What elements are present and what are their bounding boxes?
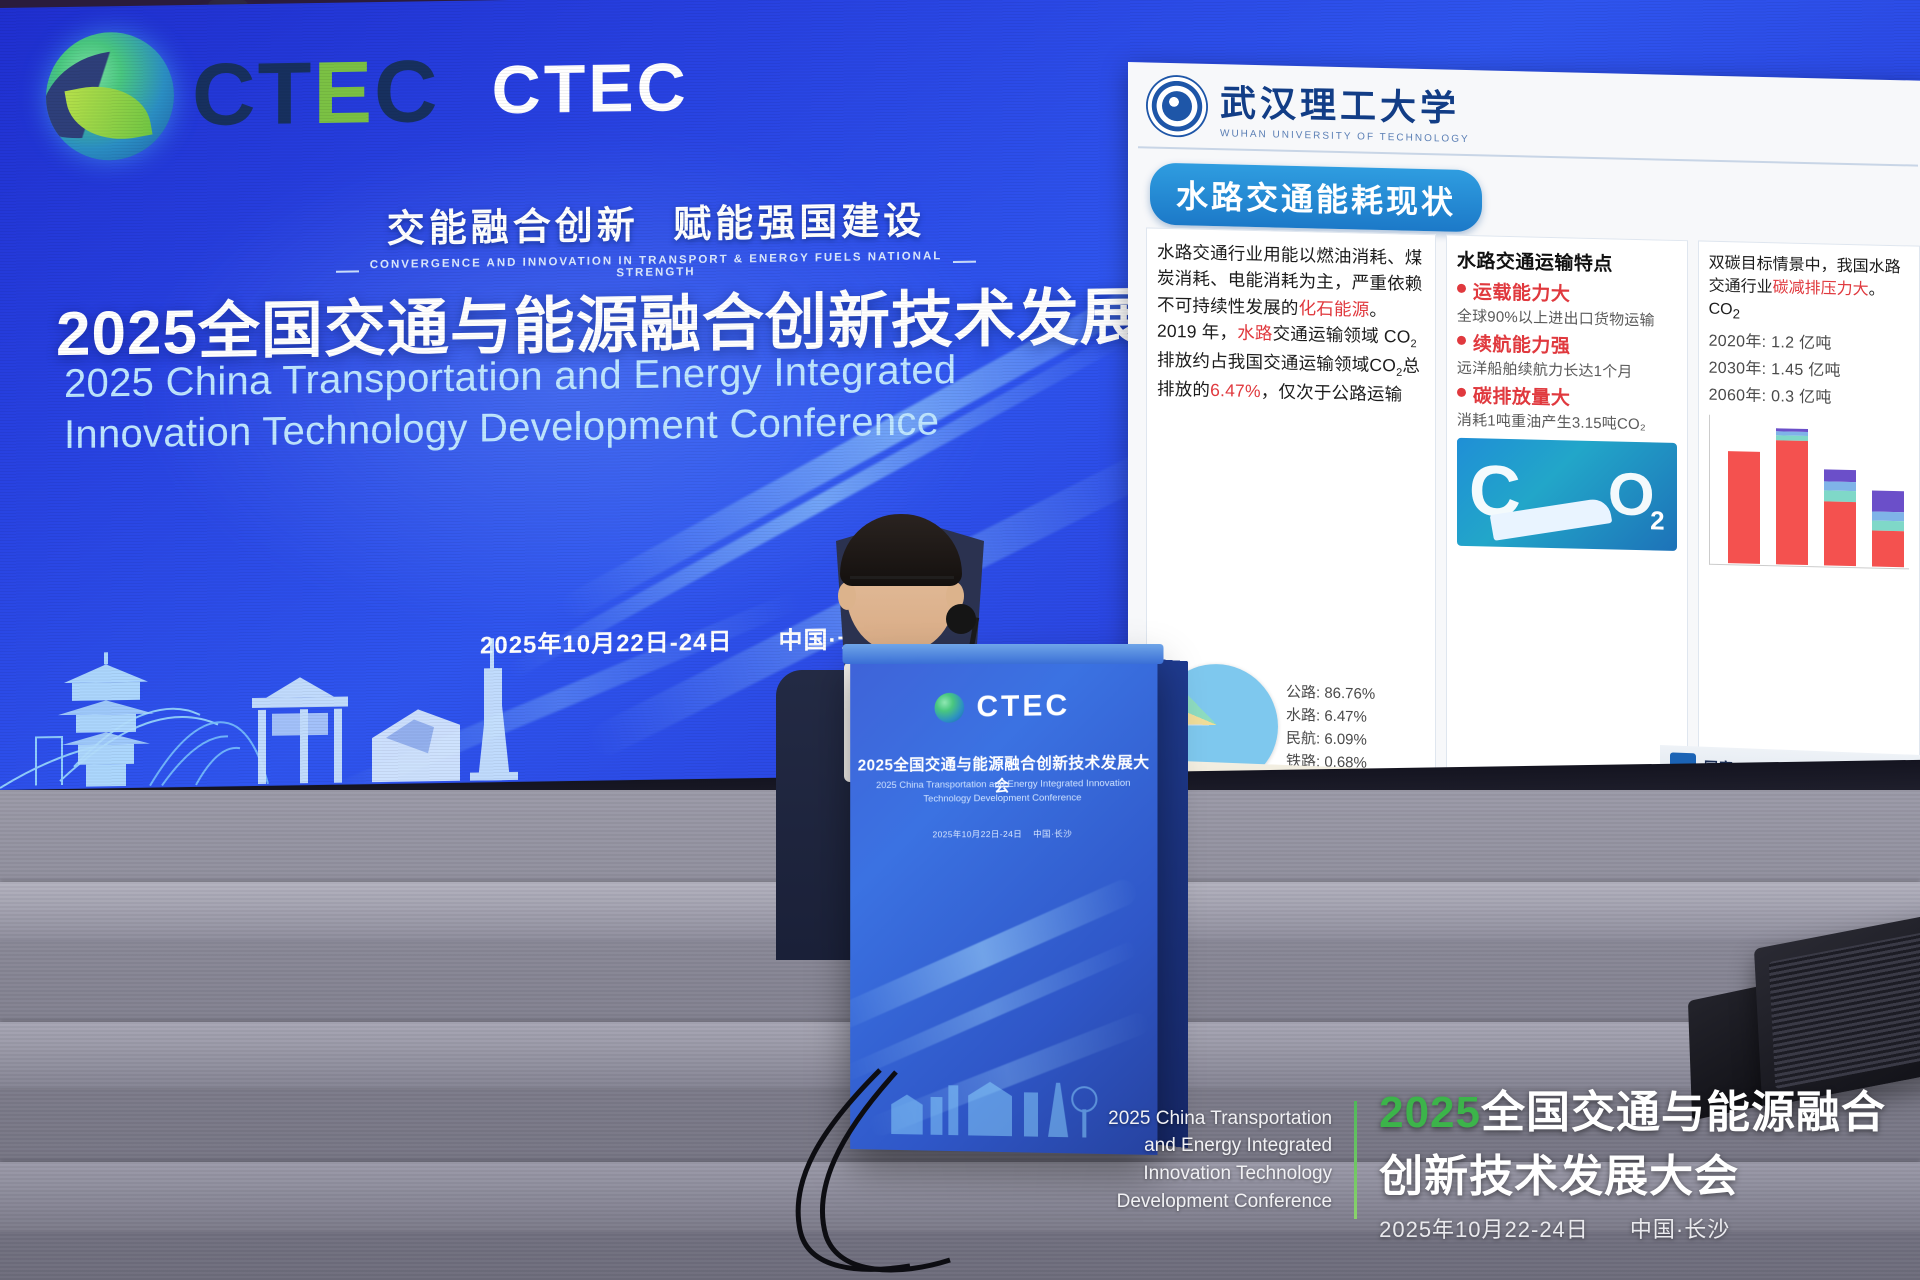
feature-item: 碳排放量大 — [1457, 381, 1677, 413]
microphone-icon — [946, 604, 976, 634]
co2-letter-o: O — [1608, 459, 1655, 529]
university-seal-icon — [1146, 74, 1208, 137]
slide-paragraph: 水路交通行业用能以燃油消耗、煤炭消耗、电能消耗为主，严重依赖不可持续性发展的化石… — [1157, 239, 1425, 408]
podium-date: 2025年10月22日-24日 — [933, 829, 1023, 839]
bullet-dot-icon — [1457, 388, 1466, 397]
podium-logo-text: CTEC — [977, 689, 1071, 724]
bar-2020 — [1728, 451, 1760, 564]
right-value-year: 2030年: — [1709, 360, 1767, 378]
conference-watermark: 2025 China Transportation and Energy Int… — [1108, 1076, 1886, 1244]
right-paragraph: 双碳目标情景中，我国水路交通行业碳减排压力大。CO2 — [1709, 252, 1909, 329]
right-value-amount: 1.2 亿吨 — [1771, 334, 1832, 352]
ctec-globe-icon — [46, 31, 174, 161]
pie-legend: 公路: 86.76% 水路: 6.47% 民航: 6.09% 铁路: 0.68% — [1286, 680, 1375, 775]
skyline-graphic — [0, 609, 560, 798]
carbon-scenario-bar-chart — [1709, 415, 1909, 570]
right-value-year: 2020年: — [1709, 333, 1767, 351]
co2-illustration: C O 2 — [1457, 438, 1677, 551]
watermark-divider — [1354, 1101, 1357, 1219]
slide-column-middle: 水路交通运输特点 运载能力大 全球90%以上进出口货物运输 续航能力强 远洋船舶… — [1446, 234, 1688, 807]
watermark-meta: 2025年10月22-24日 中国·长沙 — [1379, 1212, 1886, 1244]
podium-globe-icon — [934, 693, 964, 723]
tagline-cn-1: 交能融合创新 — [387, 205, 639, 251]
presentation-slide: 武汉理工大学 WUHAN UNIVERSITY OF TECHNOLOGY 水路… — [1128, 62, 1920, 821]
banner-title-en: 2025 China Transportation and Energy Int… — [64, 343, 1074, 461]
stage-scene: CTEC CTEC 交能融合创新 赋能强国建设 CONVERGENCE AND … — [0, 0, 1920, 1280]
co2-subscript-2: 2 — [1650, 505, 1664, 536]
ear-left — [838, 582, 856, 610]
pie-legend-item: 民航: 6.09% — [1286, 727, 1375, 752]
watermark-cn: 2025全国交通与能源融合 创新技术发展大会 2025年10月22-24日 中国… — [1379, 1076, 1886, 1244]
watermark-en-line: Innovation Technology — [1108, 1160, 1332, 1188]
feature-title: 运载能力大 — [1473, 277, 1571, 306]
university-header: 武汉理工大学 WUHAN UNIVERSITY OF TECHNOLOGY — [1146, 72, 1470, 145]
watermark-title-line2: 创新技术发展大会 — [1379, 1140, 1886, 1204]
watermark-en-line: Development Conference — [1108, 1188, 1332, 1216]
right-value-amount: 0.3 亿吨 — [1771, 388, 1832, 406]
pie-legend-item: 水路: 6.47% — [1286, 703, 1375, 728]
feature-title: 碳排放量大 — [1473, 381, 1571, 410]
feature-detail: 远洋船舶续航力长达1个月 — [1457, 357, 1677, 383]
slide-divider — [1138, 146, 1918, 166]
watermark-date: 2025年10月22-24日 — [1379, 1217, 1589, 1242]
podium-title-en: 2025 China Transportation and Energy Int… — [864, 777, 1143, 807]
bullet-dot-icon — [1457, 336, 1466, 345]
tagline-cn-2: 赋能强国建设 — [673, 200, 925, 246]
feature-title: 续航能力强 — [1473, 329, 1571, 358]
features-heading: 水路交通运输特点 — [1457, 246, 1677, 278]
watermark-en: 2025 China Transportation and Energy Int… — [1108, 1105, 1332, 1215]
university-name-cn: 武汉理工大学 — [1220, 74, 1470, 132]
slide-columns: 水路交通行业用能以燃油消耗、煤炭消耗、电能消耗为主，严重依赖不可持续性发展的化石… — [1146, 227, 1920, 812]
brand-logo-row: CTEC CTEC — [46, 23, 689, 161]
bar-2045 — [1824, 469, 1856, 566]
slide-column-left: 水路交通行业用能以燃油消耗、煤炭消耗、电能消耗为主，严重依赖不可持续性发展的化石… — [1146, 227, 1436, 801]
watermark-en-line: 2025 China Transportation — [1108, 1105, 1332, 1133]
right-value-year: 2060年: — [1709, 387, 1767, 405]
right-value-row: 2060年: 0.3 亿吨 — [1709, 381, 1909, 410]
pie-legend-item: 公路: 86.76% — [1286, 680, 1375, 705]
watermark-en-line: and Energy Integrated — [1108, 1132, 1332, 1160]
watermark-title-line1: 2025全国交通与能源融合 — [1379, 1076, 1886, 1140]
slide-column-right: 双碳目标情景中，我国水路交通行业碳减排压力大。CO2 2020年: 1.2 亿吨… — [1698, 240, 1920, 812]
feature-detail: 消耗1吨重油产生3.15吨CO₂ — [1457, 409, 1677, 435]
podium-meta: 2025年10月22日-24日 中国·长沙 — [850, 827, 1157, 841]
right-value-row: 2020年: 1.2 亿吨 — [1709, 327, 1909, 356]
ctec-wordmark: CTEC — [192, 47, 440, 139]
bar-2030 — [1776, 428, 1808, 565]
feature-detail: 全球90%以上进出口货物运输 — [1457, 305, 1677, 331]
watermark-title-cn1: 全国交通与能源融合 — [1481, 1088, 1886, 1137]
bar-2060 — [1872, 490, 1904, 567]
podium-logo: CTEC — [850, 687, 1157, 726]
ctec-wordmark-white: CTEC — [492, 48, 689, 129]
slide-section-title: 水路交通能耗现状 — [1150, 163, 1482, 233]
right-value-row: 2030年: 1.45 亿吨 — [1709, 354, 1909, 383]
bullet-dot-icon — [1457, 284, 1466, 293]
feature-item: 续航能力强 — [1457, 329, 1677, 361]
podium-top-surface — [842, 644, 1163, 664]
right-value-amount: 1.45 亿吨 — [1771, 361, 1841, 380]
speaker-grille — [1769, 931, 1920, 1089]
glasses — [850, 576, 954, 579]
watermark-location: 中国·长沙 — [1630, 1217, 1730, 1242]
watermark-year: 2025 — [1379, 1088, 1481, 1137]
podium-location: 中国·长沙 — [1033, 829, 1072, 839]
feature-item: 运载能力大 — [1457, 277, 1677, 309]
